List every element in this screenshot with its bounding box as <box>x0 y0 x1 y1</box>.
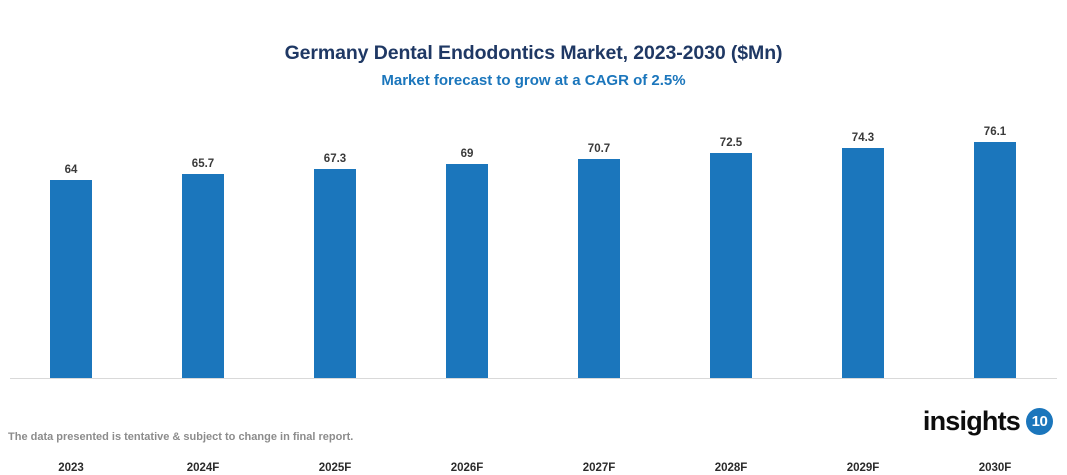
x-axis-tick-label: 2027F <box>533 461 665 475</box>
disclaimer-text: The data presented is tentative & subjec… <box>8 430 353 444</box>
bar[interactable] <box>446 164 488 378</box>
bar-group: 74.32029F <box>842 76 884 454</box>
x-axis-line <box>10 378 1057 379</box>
x-axis-tick-label: 2025F <box>269 461 401 475</box>
bar-value-label: 72.5 <box>685 137 777 150</box>
plot-area: 64202365.72024F67.32025F692026F70.72027F… <box>0 0 1067 454</box>
bar-group: 72.52028F <box>710 76 752 454</box>
logo-badge-icon: 10 <box>1026 408 1053 435</box>
bar-value-label: 70.7 <box>553 143 645 156</box>
bar-value-label: 64 <box>25 164 117 177</box>
bar[interactable] <box>578 159 620 378</box>
x-axis-tick-label: 2023 <box>5 461 137 475</box>
bar-group: 65.72024F <box>182 76 224 454</box>
bar-value-label: 65.7 <box>157 158 249 171</box>
x-axis-tick-label: 2028F <box>665 461 797 475</box>
insights10-logo: insights 10 <box>923 406 1053 436</box>
bar[interactable] <box>50 180 92 378</box>
x-axis-tick-label: 2029F <box>797 461 929 475</box>
bar-value-label: 74.3 <box>817 132 909 145</box>
bar-group: 642023 <box>50 76 92 454</box>
x-axis-tick-label: 2026F <box>401 461 533 475</box>
logo-wordmark: insights <box>923 406 1020 436</box>
chart-container: Germany Dental Endodontics Market, 2023-… <box>0 0 1067 454</box>
bar-value-label: 76.1 <box>949 126 1041 139</box>
bar[interactable] <box>974 142 1016 378</box>
bar[interactable] <box>842 148 884 378</box>
x-axis-tick-label: 2030F <box>929 461 1061 475</box>
bar-group: 692026F <box>446 76 488 454</box>
bar[interactable] <box>182 174 224 378</box>
x-axis-tick-label: 2024F <box>137 461 269 475</box>
bar-group: 70.72027F <box>578 76 620 454</box>
bar[interactable] <box>314 169 356 378</box>
bar-group: 67.32025F <box>314 76 356 454</box>
bar-value-label: 67.3 <box>289 153 381 166</box>
bar-group: 76.12030F <box>974 76 1016 454</box>
bar-value-label: 69 <box>421 148 513 161</box>
bar[interactable] <box>710 153 752 378</box>
